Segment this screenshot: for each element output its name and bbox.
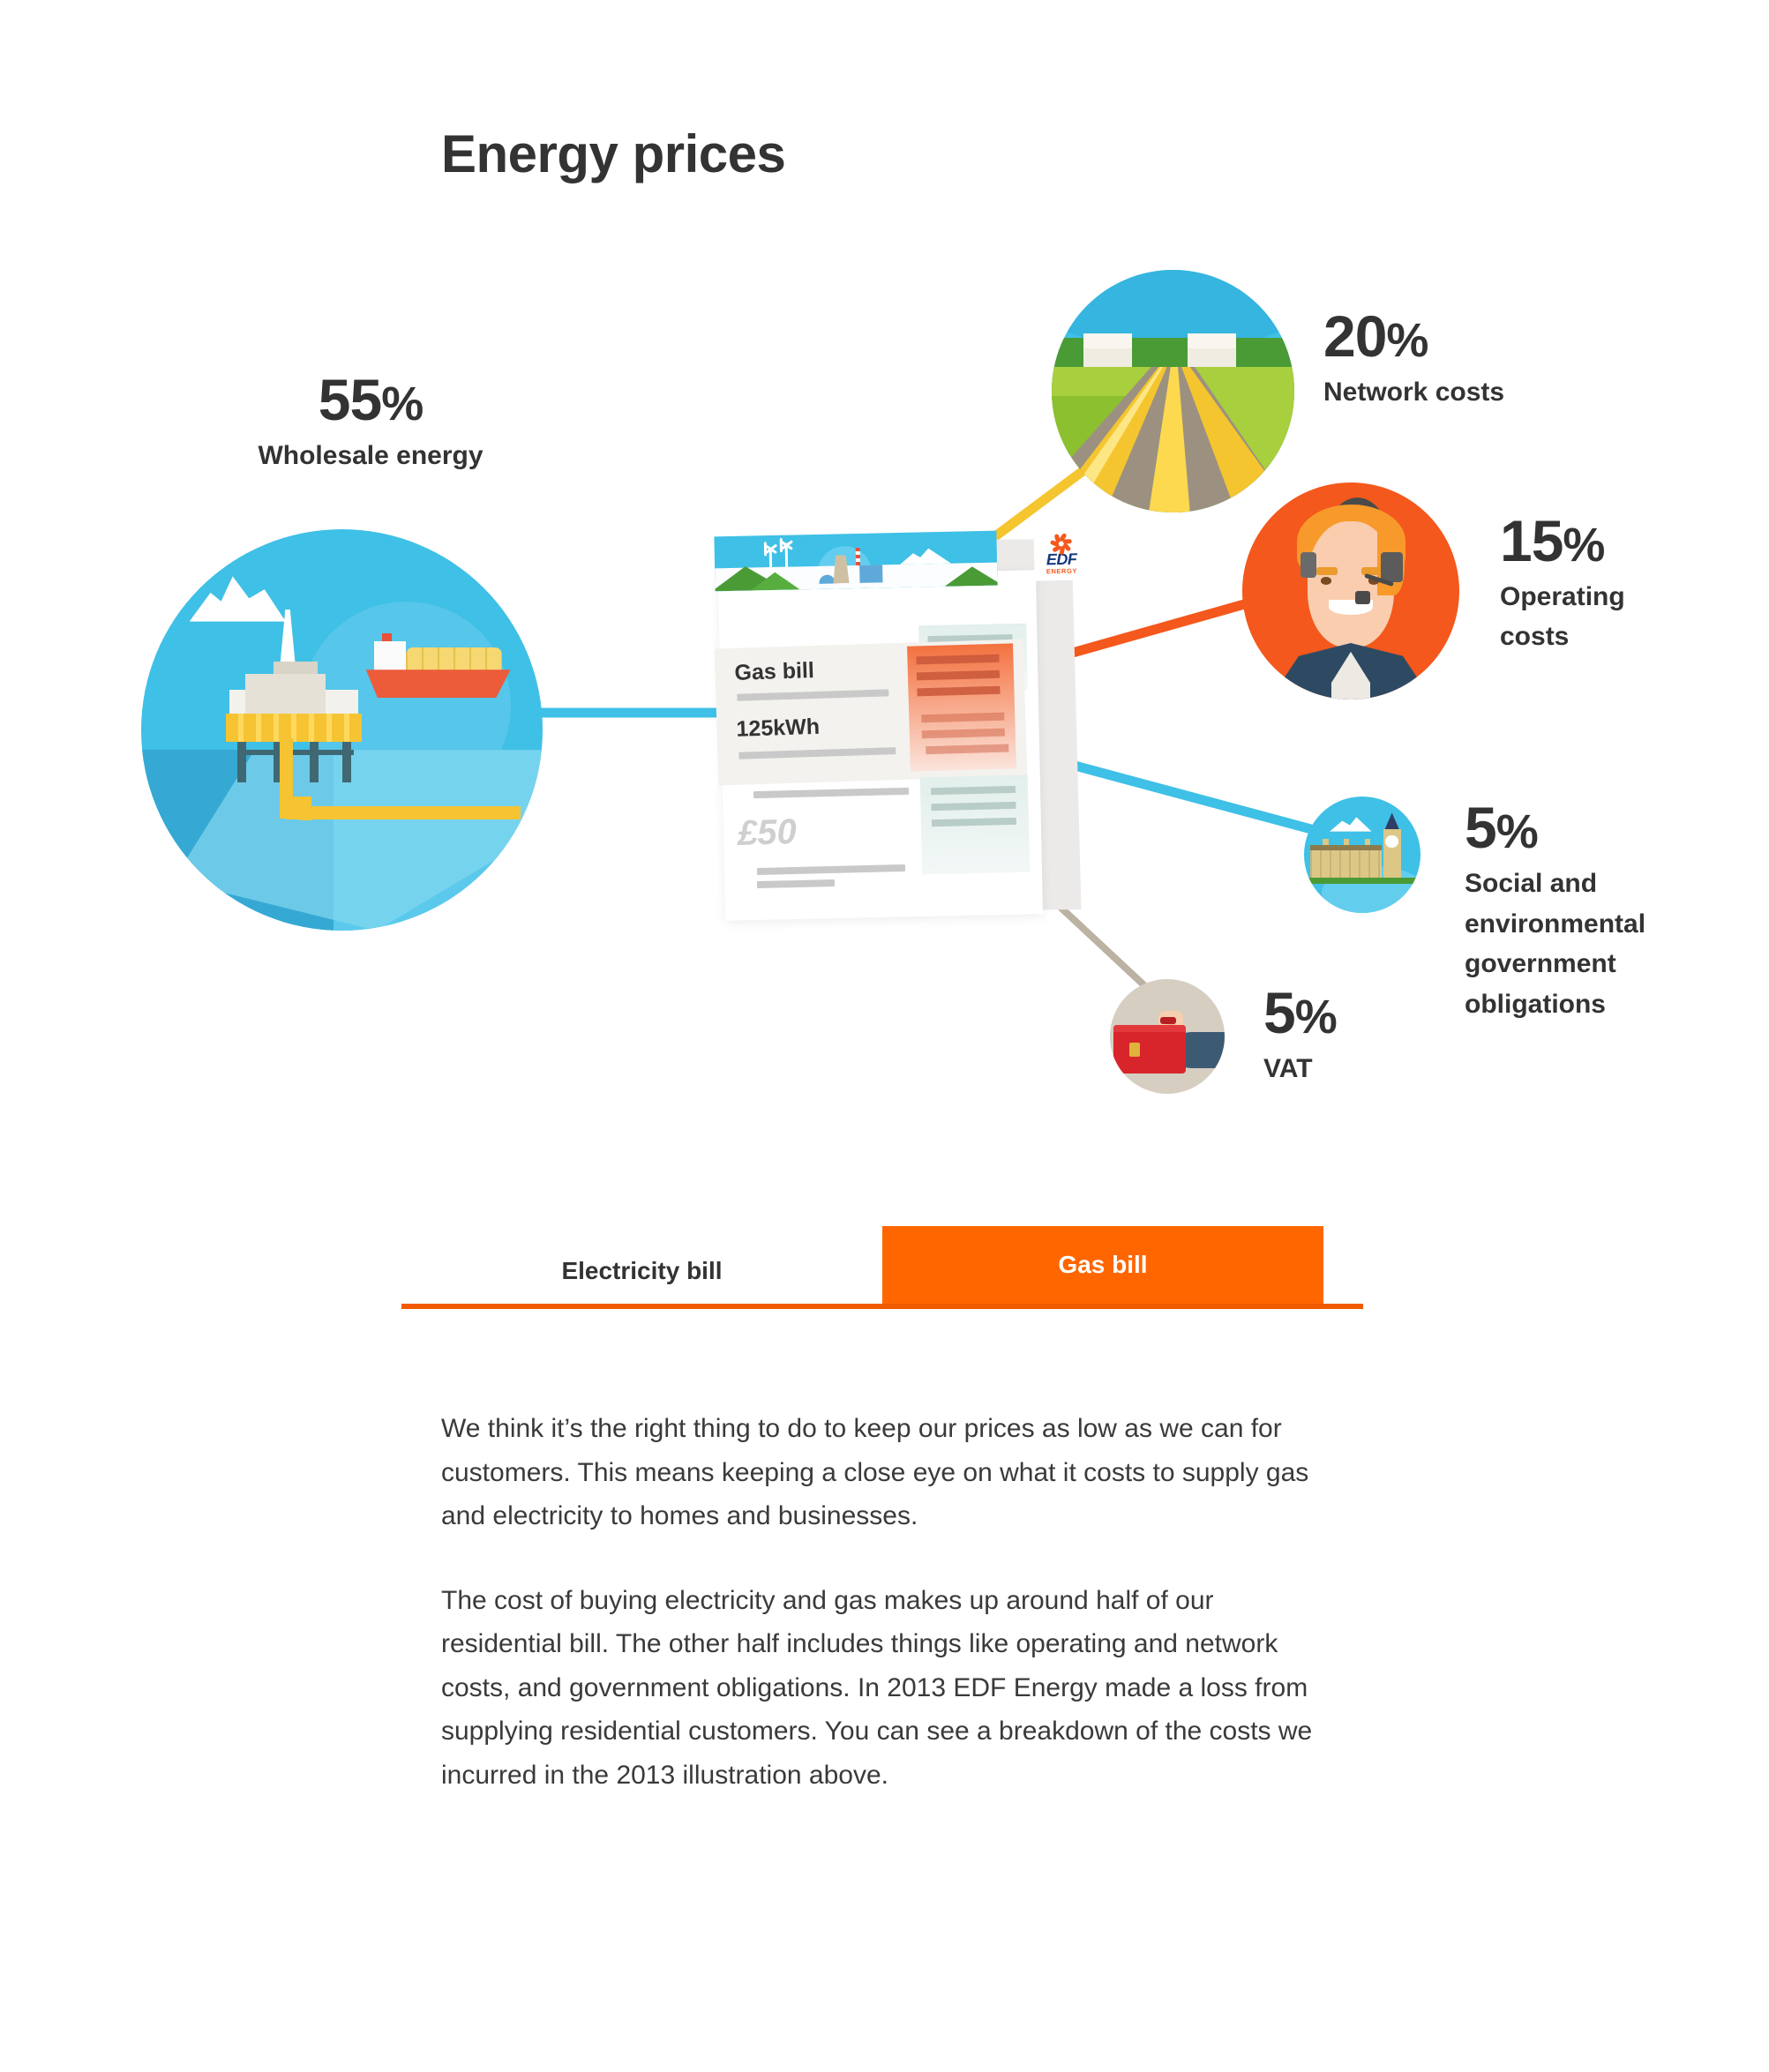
stat-caption-line: Social and	[1465, 864, 1703, 904]
stat-operating-costs: 15% Operating costs	[1500, 512, 1765, 656]
budget-box-icon	[1110, 979, 1225, 1094]
stat-caption-line: Operating	[1500, 577, 1765, 617]
bill-orange-highlight-block	[907, 643, 1016, 771]
stat-caption-line: costs	[1500, 617, 1765, 656]
call-centre-agent-icon	[1242, 482, 1459, 699]
stat-caption: VAT	[1263, 1049, 1458, 1088]
body-copy: We think it’s the right thing to do to k…	[441, 1407, 1332, 1837]
stat-percent: 5%	[1465, 798, 1703, 856]
stat-caption: Operating costs	[1500, 577, 1765, 656]
stat-caption-line: environmental	[1465, 904, 1703, 945]
offshore-gas-rig-icon	[141, 529, 543, 931]
stat-wholesale-energy: 55% Wholesale energy	[212, 370, 529, 475]
bill-type-tabs: Electricity bill Gas bill	[401, 1226, 1363, 1332]
bill-amount: £50	[737, 812, 797, 854]
gas-pipeline-icon	[1052, 270, 1294, 512]
tab-underline	[401, 1304, 1363, 1309]
stat-percent: 15%	[1500, 512, 1765, 570]
stat-caption: Wholesale energy	[212, 436, 529, 475]
stat-caption-line: government	[1465, 944, 1703, 984]
stat-vat: 5% VAT	[1263, 984, 1458, 1088]
energy-landscape-banner	[714, 531, 997, 592]
edf-flower-mark	[1050, 533, 1073, 551]
paragraph-2: The cost of buying electricity and gas m…	[441, 1579, 1332, 1798]
stat-social-environmental-obligations: 5% Social and environmental government o…	[1465, 798, 1703, 1024]
stat-percent: 20%	[1323, 307, 1694, 365]
gas-bill-illustration: EDF ENERGY Gas bill 125kWh	[706, 485, 1094, 926]
houses-of-parliament-icon	[1304, 797, 1420, 913]
stat-caption-line: obligations	[1465, 984, 1703, 1025]
page-root: Energy prices	[0, 0, 1769, 2072]
stat-percent: 5%	[1263, 984, 1458, 1042]
tab-electricity-bill[interactable]: Electricity bill	[401, 1238, 882, 1304]
bill-usage: 125kWh	[736, 714, 820, 743]
stat-network-costs: 20% Network costs	[1323, 307, 1694, 412]
edf-energy-logo: EDF ENERGY	[1033, 525, 1089, 580]
paragraph-1: We think it’s the right thing to do to k…	[441, 1407, 1332, 1538]
stat-caption: Social and environmental government obli…	[1465, 864, 1703, 1024]
edf-energy-subtitle: ENERGY	[1046, 568, 1077, 575]
stat-percent: 55%	[212, 370, 529, 429]
tab-gas-bill[interactable]: Gas bill	[882, 1226, 1323, 1304]
stat-caption: Network costs	[1323, 372, 1694, 412]
energy-price-breakdown-infographic: EDF ENERGY Gas bill 125kWh	[0, 0, 1769, 1173]
bill-heading: Gas bill	[734, 658, 814, 686]
bill-teal-block-bottom	[920, 775, 1031, 875]
